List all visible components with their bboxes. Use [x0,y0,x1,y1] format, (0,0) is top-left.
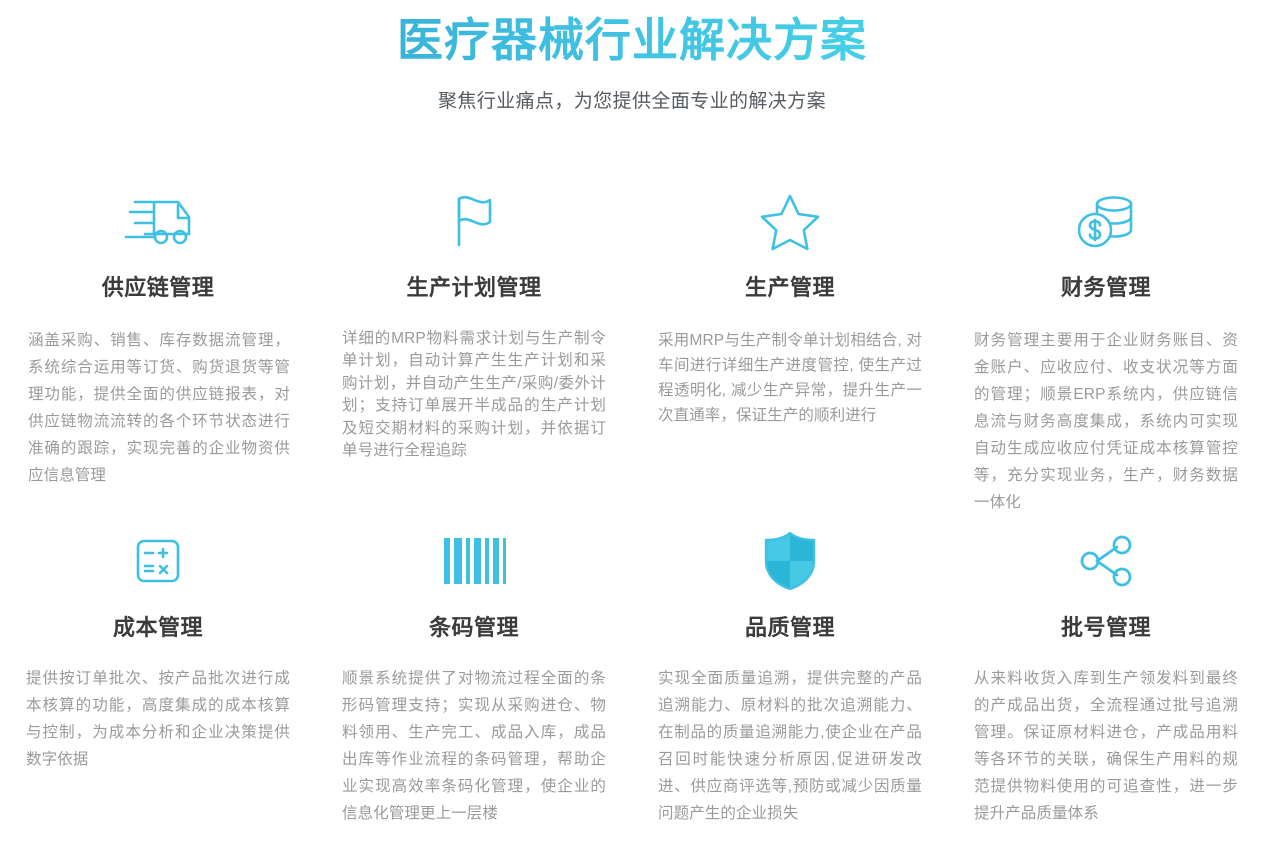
feature-card-title: 供应链管理 [26,270,290,302]
star-icon [658,178,922,264]
page-subtitle: 聚焦行业痛点，为您提供全面专业的解决方案 [0,86,1264,113]
feature-card-finance[interactable]: 财务管理 财务管理主要用于企业财务账目、资金账户、应收应付、收支状况等方面的管理… [948,178,1264,517]
feature-card-description: 提供按订单批次、按产品批次进行成本核算的功能，高度集成的成本核算与控制，为成本分… [26,666,290,774]
calculator-icon [26,518,290,604]
feature-card-description: 顺景系统提供了对物流过程全面的条形码管理支持；实现从采购进仓、物料领用、生产完工… [342,666,606,828]
feature-card-title: 条码管理 [342,610,606,642]
feature-card-batch[interactable]: 批号管理 从来料收货入库到生产领发料到最终的产成品出货，全流程通过批号追溯管理。… [948,518,1264,828]
feature-card-title: 生产计划管理 [342,270,606,302]
feature-card-production-mgmt[interactable]: 生产管理 采用MRP与生产制令单计划相结合, 对车间进行详细生产进度管控, 使生… [632,178,948,517]
feature-card-barcode[interactable]: 条码管理 顺景系统提供了对物流过程全面的条形码管理支持；实现从采购进仓、物料领用… [316,518,632,828]
feature-card-description: 采用MRP与生产制令单计划相结合, 对车间进行详细生产进度管控, 使生产过程透明… [658,328,922,428]
feature-card-title: 生产管理 [658,270,922,302]
page-title: 医疗器械行业解决方案 [0,12,1264,68]
feature-card-description: 财务管理主要用于企业财务账目、资金账户、应收应付、收支状况等方面的管理；顺景ER… [974,328,1238,517]
delivery-truck-icon [26,178,290,264]
feature-grid-row-1: 供应链管理 涵盖采购、销售、库存数据流管理，系统综合运用等订货、购货退货等管理功… [0,178,1264,517]
coins-dollar-icon [974,178,1238,264]
feature-card-title: 批号管理 [974,610,1238,642]
feature-card-description: 实现全面质量追溯，提供完整的产品追溯能力、原材料的批次追溯能力、在制品的质量追溯… [658,666,922,828]
feature-card-description: 从来料收货入库到生产领发料到最终的产成品出货，全流程通过批号追溯管理。保证原材料… [974,666,1238,828]
feature-card-description: 详细的MRP物料需求计划与生产制令单计划，自动计算产生生产计划和采购计划，并自动… [342,328,606,463]
feature-card-title: 财务管理 [974,270,1238,302]
solution-page: 医疗器械行业解决方案 聚焦行业痛点，为您提供全面专业的解决方案 [0,0,1264,858]
feature-card-description: 涵盖采购、销售、库存数据流管理，系统综合运用等订货、购货退货等管理功能，提供全面… [28,328,290,490]
flag-icon [342,178,606,264]
feature-card-cost[interactable]: 成本管理 提供按订单批次、按产品批次进行成本核算的功能，高度集成的成本核算与控制… [0,518,316,828]
shield-quality-icon [658,518,922,604]
share-network-icon [974,518,1238,604]
barcode-icon [342,518,606,604]
feature-card-title: 成本管理 [26,610,290,642]
feature-card-supply-chain[interactable]: 供应链管理 涵盖采购、销售、库存数据流管理，系统综合运用等订货、购货退货等管理功… [0,178,316,517]
feature-card-quality[interactable]: 品质管理 实现全面质量追溯，提供完整的产品追溯能力、原材料的批次追溯能力、在制品… [632,518,948,828]
feature-grid-row-2: 成本管理 提供按订单批次、按产品批次进行成本核算的功能，高度集成的成本核算与控制… [0,518,1264,828]
feature-card-production-plan[interactable]: 生产计划管理 详细的MRP物料需求计划与生产制令单计划，自动计算产生生产计划和采… [316,178,632,517]
page-header: 医疗器械行业解决方案 聚焦行业痛点，为您提供全面专业的解决方案 [0,0,1264,113]
feature-card-title: 品质管理 [658,610,922,642]
